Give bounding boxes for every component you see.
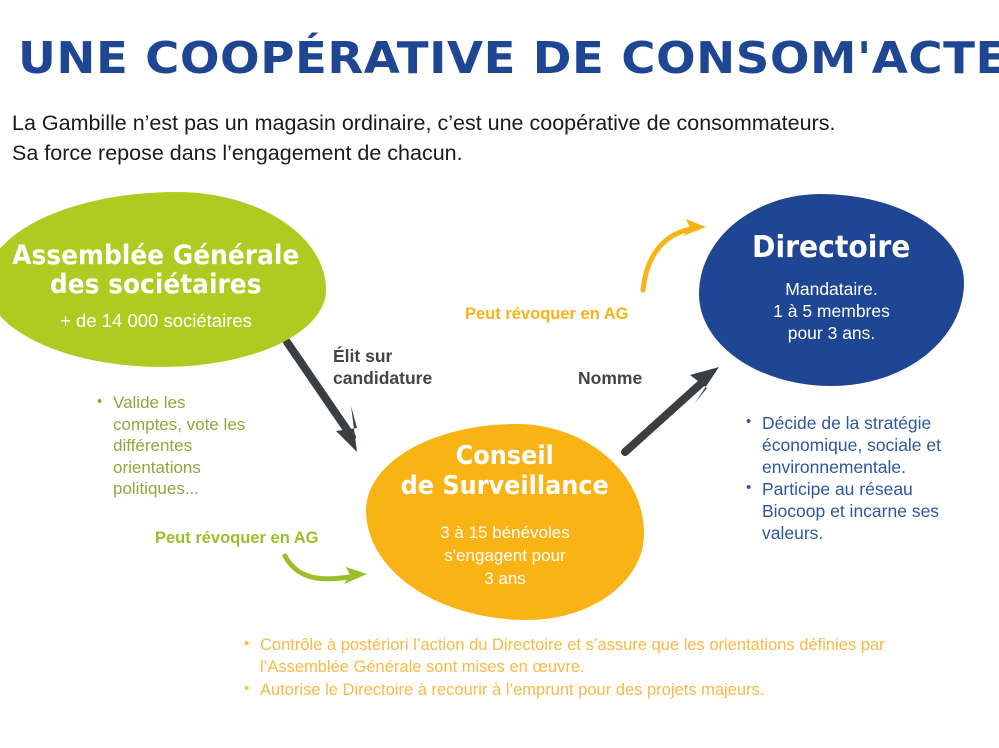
node-directoire-heading: Directoire — [752, 231, 910, 264]
subtitle-line-1: La Gambille n’est pas un magasin ordinai… — [12, 111, 835, 135]
arrow-revoque-orange — [643, 219, 706, 290]
node-conseil-de-surveillance-heading: Conseil de Surveillance — [401, 441, 609, 501]
list-item: Décide de la stratégie économique, socia… — [746, 412, 978, 478]
subtext-line-1: Mandataire. — [773, 278, 890, 300]
list-item: Valide les comptes, vote les différentes… — [97, 392, 257, 500]
connector-label-revoque-orange: Peut révoquer en AG — [465, 305, 629, 324]
list-item: Contrôle à postériori l’action du Direct… — [244, 634, 944, 678]
page-title: UNE COOPÉRATIVE DE CONSOM'ACTEURS — [18, 36, 999, 82]
node-directoire-subtext: Mandataire. 1 à 5 membres pour 3 ans. — [773, 278, 890, 344]
heading-line-2: des sociétaires — [12, 270, 299, 299]
connector-label-elit-sur-candidature: Élit sur candidature — [333, 345, 463, 389]
heading-line-2: de Surveillance — [401, 471, 609, 501]
list-item: Participe au réseau Biocoop et incarne s… — [746, 478, 978, 544]
subtext-line-1: 3 à 15 bénévoles — [440, 521, 570, 544]
bullets-assemblee-generale: Valide les comptes, vote les différentes… — [97, 392, 257, 500]
subtitle-line-2: Sa force repose dans l’engagement de cha… — [12, 138, 972, 168]
label-line-2: candidature — [333, 367, 463, 389]
heading-line-1: Assemblée Générale — [12, 241, 299, 270]
node-conseil-de-surveillance[interactable]: Conseil de Surveillance 3 à 15 bénévoles… — [366, 424, 644, 620]
node-conseil-de-surveillance-subtext: 3 à 15 bénévoles s'engagent pour 3 ans — [440, 521, 570, 590]
slide-canvas: UNE COOPÉRATIVE DE CONSOM'ACTEURS La Gam… — [0, 0, 999, 748]
subtext-line-3: pour 3 ans. — [773, 322, 890, 344]
node-assemblee-generale-subtext: + de 14 000 sociétaires — [60, 309, 252, 333]
list-item: Autorise le Directoire à recourir à l’em… — [244, 679, 944, 701]
page-subtitle: La Gambille n’est pas un magasin ordinai… — [12, 108, 972, 168]
bullets-conseil-de-surveillance: Contrôle à postériori l’action du Direct… — [244, 634, 944, 702]
bullets-directoire: Décide de la stratégie économique, socia… — [746, 412, 978, 544]
subtext-line-2: 1 à 5 membres — [773, 300, 890, 322]
connector-label-nomme: Nomme — [578, 368, 642, 389]
node-assemblee-generale-heading: Assemblée Générale des sociétaires — [12, 241, 299, 299]
node-directoire[interactable]: Directoire Mandataire. 1 à 5 membres pou… — [699, 194, 964, 386]
connector-label-revoque-green: Peut révoquer en AG — [155, 529, 319, 548]
heading-line-1: Conseil — [401, 441, 609, 471]
subtext-line-3: 3 ans — [440, 567, 570, 590]
node-assemblee-generale[interactable]: Assemblée Générale des sociétaires + de … — [0, 192, 326, 367]
arrow-revoque-green — [285, 556, 367, 584]
label-line-1: Élit sur — [333, 345, 463, 367]
subtext-line-2: s'engagent pour — [440, 544, 570, 567]
